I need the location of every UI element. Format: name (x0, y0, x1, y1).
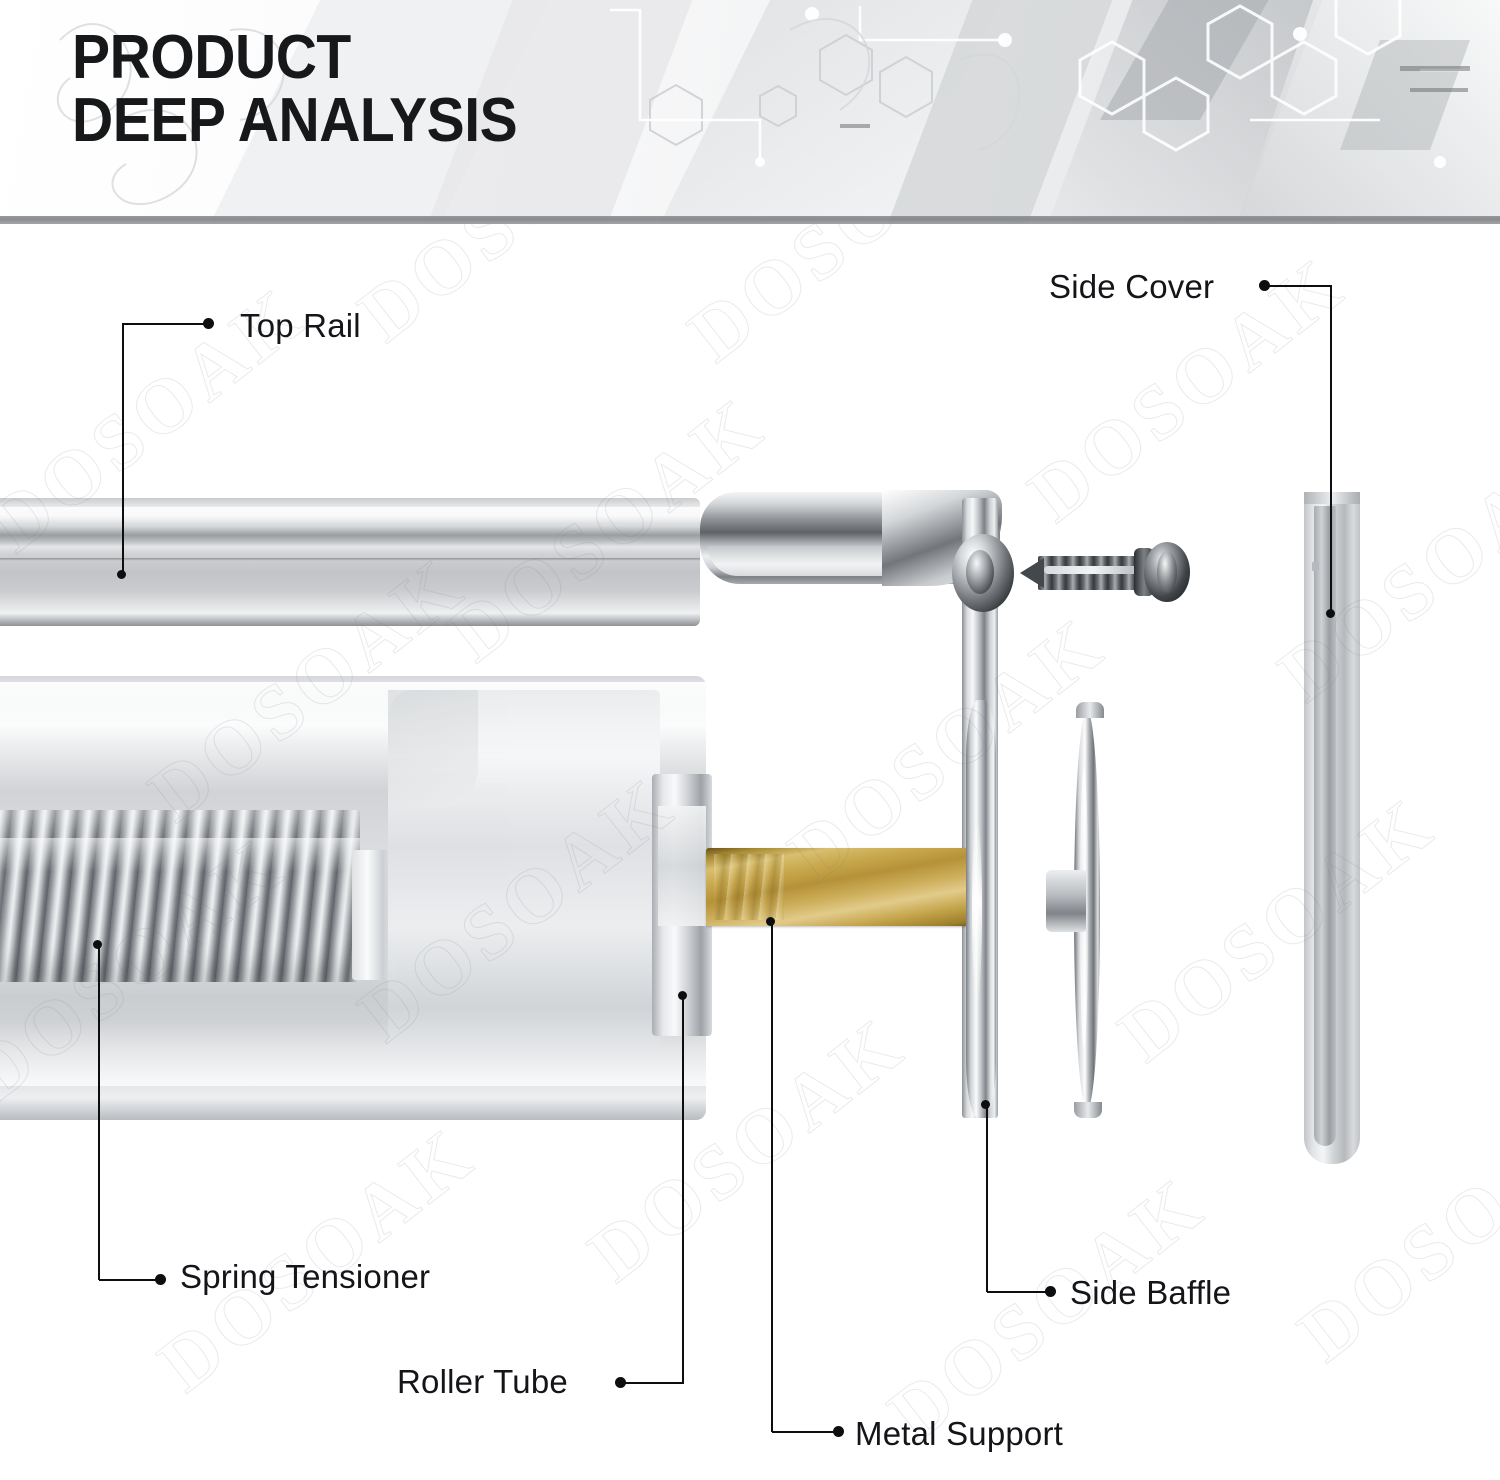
leader-dot (1259, 280, 1270, 291)
part-end-cap-body (388, 690, 660, 1060)
part-mounting-screw (1022, 540, 1190, 604)
side-cover-groove (1314, 506, 1336, 1146)
watermark-text: DOSOAK (1102, 778, 1452, 1079)
leader-line-horizontal (99, 1279, 161, 1281)
callout-label-roller-tube: Roller Tube (397, 1363, 568, 1401)
leader-anchor-dot (117, 570, 126, 579)
leader-line-vertical (986, 1105, 988, 1292)
callout-label-side-baffle: Side Baffle (1070, 1274, 1231, 1312)
header-banner: PRODUCT DEEP ANALYSIS (0, 0, 1500, 224)
leader-line-vertical (122, 323, 124, 576)
leader-dot (1045, 1286, 1056, 1297)
callout-label-top-rail: Top Rail (240, 307, 361, 345)
part-side-baffle (966, 700, 996, 1118)
callout-label-side-cover: Side Cover (1049, 268, 1214, 306)
callout-label-metal-support: Metal Support (855, 1415, 1063, 1453)
leader-anchor-dot (981, 1100, 990, 1109)
part-metal-support (706, 848, 968, 926)
side-cover-notch (1312, 562, 1319, 571)
leader-anchor-dot (766, 917, 775, 926)
leader-anchor-dot (1326, 609, 1335, 618)
part-bracket-boss (952, 534, 1014, 612)
leader-dot (155, 1274, 166, 1285)
leader-anchor-dot (93, 940, 102, 949)
header-divider (0, 216, 1500, 224)
screw-tip (1020, 558, 1044, 588)
bracket-boss-hole (966, 550, 994, 594)
part-end-cap-step (658, 806, 706, 926)
callout-label-spring-tensioner: Spring Tensioner (180, 1258, 430, 1296)
part-retaining-ring (1066, 710, 1110, 1110)
part-spring-tensioner (0, 810, 360, 982)
leader-line-horizontal (123, 323, 209, 325)
side-cover-lip (1304, 492, 1360, 504)
watermark-text: DOSOAK (1262, 418, 1500, 719)
leader-line-horizontal (987, 1291, 1052, 1293)
part-top-rail (0, 498, 700, 626)
watermark-text: DOSOAK (672, 224, 1022, 380)
leader-line-horizontal (624, 1382, 684, 1384)
page-title: PRODUCT DEEP ANALYSIS (72, 26, 517, 152)
top-rail-seam (0, 558, 700, 561)
leader-dot (615, 1377, 626, 1388)
retaining-ring-top-tab (1076, 702, 1104, 718)
retaining-ring-hub (1046, 870, 1086, 932)
leader-anchor-dot (678, 991, 687, 1000)
metal-support-brush-streaks (714, 854, 784, 920)
leader-line-vertical (98, 945, 100, 1280)
retaining-ring-bottom-tab (1074, 1102, 1102, 1118)
end-cap-notch (388, 690, 478, 808)
watermark-text: DOSOAK (342, 224, 692, 360)
leader-line-vertical (682, 996, 684, 1383)
leader-line-vertical (771, 922, 773, 1432)
leader-dot (203, 318, 214, 329)
product-analysis-diagram: PRODUCT DEEP ANALYSIS (0, 0, 1500, 1480)
screw-head (1144, 542, 1190, 602)
side-baffle-glint (972, 820, 982, 1000)
leader-line-horizontal (1268, 285, 1332, 287)
leader-dot (833, 1426, 844, 1437)
part-side-cover (1304, 492, 1360, 1164)
leader-line-horizontal (772, 1431, 840, 1433)
leader-line-vertical (1330, 285, 1332, 615)
top-rail-highlight (0, 507, 700, 523)
spring-sheen (0, 838, 360, 872)
